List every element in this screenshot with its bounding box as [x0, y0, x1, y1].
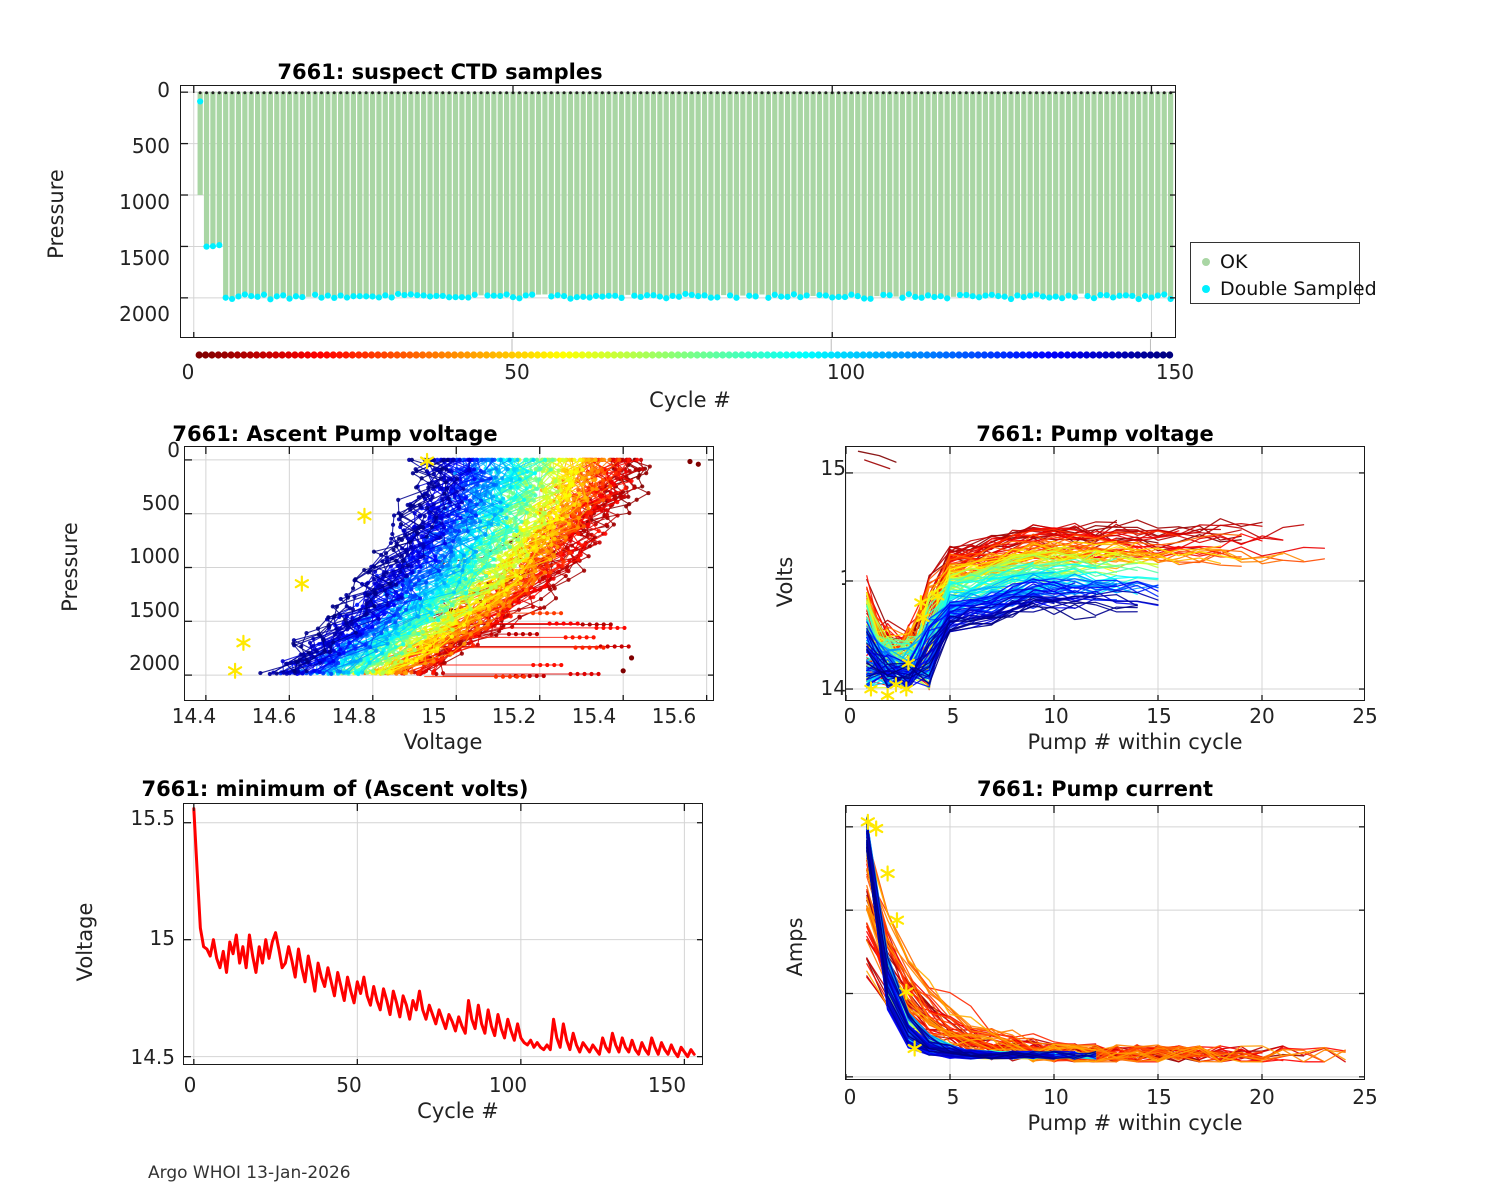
cycle-colorbar-strip [176, 339, 1186, 369]
ytick-mv-145: 14.5 [105, 1045, 175, 1069]
ytick-1500: 1500 [100, 246, 170, 270]
axis-label-asc-voltage: Voltage [363, 730, 523, 754]
legend-item-double-sampled: Double Sampled [1198, 275, 1350, 302]
panel-title-ascent-pump-voltage: 7661: Ascent Pump voltage [0, 422, 705, 446]
legend-item-ok: OK [1198, 248, 1350, 275]
xtick-pv-25: 25 [1335, 704, 1395, 728]
xtick-pc-5: 5 [928, 1085, 978, 1109]
panel-ascent-pump-voltage: 7661: Ascent Pump voltage 0 500 1000 150… [0, 420, 740, 760]
legend-dot-ok [1202, 258, 1210, 266]
panel-title-pump-current: 7661: Pump current [715, 777, 1475, 801]
panel-title-suspect-ctd-samples: 7661: suspect CTD samples [0, 60, 1190, 84]
xtick-pv-5: 5 [928, 704, 978, 728]
legend-label-double-sampled: Double Sampled [1220, 278, 1377, 300]
xtick-pc-20: 20 [1232, 1085, 1292, 1109]
panel-pump-current: 7661: Pump current 3 2 1 0 Amps 0 5 10 1… [740, 775, 1500, 1115]
xtick-pc-25: 25 [1335, 1085, 1395, 1109]
plot-area-ascent-pump-voltage [184, 446, 714, 701]
footer-credit: Argo WHOI 13-Jan-2026 [148, 1163, 351, 1183]
legend-dot-double-sampled [1202, 285, 1210, 293]
xtick-mv-150: 150 [637, 1073, 697, 1097]
xtick-pc-0: 0 [825, 1085, 875, 1109]
xtick-mv-50: 50 [324, 1073, 374, 1097]
ytick-asc-1500: 1500 [110, 598, 180, 622]
panel-title-pump-voltage: 7661: Pump voltage [715, 422, 1475, 446]
axis-label-volts: Volts [773, 522, 797, 642]
panel-pump-voltage: 7661: Pump voltage 15.5 15 14.5 Volts 0 … [740, 420, 1500, 760]
ytick-1000: 1000 [100, 190, 170, 214]
xtick-asc-6: 15.4 [564, 704, 624, 728]
panel-minimum-ascent-volts: 7661: minimum of (Ascent volts) 15.5 15 … [0, 775, 740, 1115]
xtick-asc-1: 14.4 [164, 704, 224, 728]
ytick-asc-2000: 2000 [110, 651, 180, 675]
ytick-mv-155: 15.5 [105, 806, 175, 830]
ytick-asc-0: 0 [120, 438, 180, 462]
axis-label-voltage-min: Voltage [73, 882, 97, 1002]
xtick-asc-5: 15.2 [484, 704, 544, 728]
xtick-mv-0: 0 [165, 1073, 215, 1097]
axis-label-cycle-number: Cycle # [590, 388, 790, 412]
axis-label-amps: Amps [783, 887, 807, 1007]
xtick-pc-15: 15 [1129, 1085, 1189, 1109]
ytick-asc-1000: 1000 [110, 544, 180, 568]
ytick-2000: 2000 [100, 302, 170, 326]
plot-area-suspect-ctd-samples [180, 85, 1176, 338]
xtick-pv-0: 0 [825, 704, 875, 728]
panel-suspect-ctd-samples: 7661: suspect CTD samples 0 500 1000 150… [0, 52, 1500, 397]
xtick-asc-2: 14.6 [244, 704, 304, 728]
axis-label-asc-pressure: Pressure [58, 507, 82, 627]
plot-area-pump-current [845, 805, 1365, 1080]
xtick-pc-10: 10 [1026, 1085, 1086, 1109]
legend-label-ok: OK [1220, 251, 1247, 273]
plot-area-pump-voltage [845, 446, 1365, 701]
axis-label-pump-number-pc: Pump # within cycle [990, 1111, 1280, 1135]
plot-area-minimum-ascent-volts [183, 803, 703, 1065]
ytick-500: 500 [110, 134, 170, 158]
xtick-asc-7: 15.6 [644, 704, 704, 728]
xtick-pv-15: 15 [1129, 704, 1189, 728]
axis-label-cycle-number-min: Cycle # [358, 1099, 558, 1123]
xtick-pv-20: 20 [1232, 704, 1292, 728]
ytick-asc-500: 500 [120, 491, 180, 515]
axis-label-pressure: Pressure [44, 154, 68, 274]
xtick-mv-100: 100 [478, 1073, 538, 1097]
xtick-asc-4: 15 [404, 704, 464, 728]
ytick-0: 0 [110, 78, 170, 102]
ytick-mv-15: 15 [105, 926, 175, 950]
xtick-pv-10: 10 [1026, 704, 1086, 728]
axis-label-pump-number-pv: Pump # within cycle [990, 730, 1280, 754]
legend-suspect-ctd-samples: OK Double Sampled [1190, 242, 1360, 304]
panel-title-minimum-ascent-volts: 7661: minimum of (Ascent volts) [0, 777, 705, 801]
xtick-asc-3: 14.8 [324, 704, 384, 728]
